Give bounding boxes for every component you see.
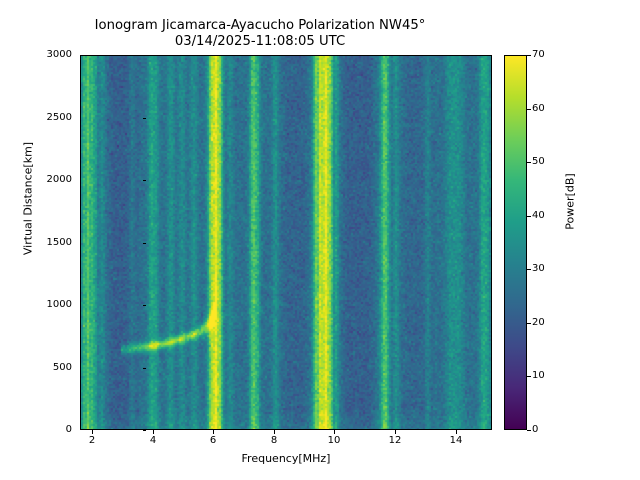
x-tick-mark bbox=[395, 430, 396, 434]
y-tick-mark bbox=[143, 430, 147, 431]
colorbar-tick-label: 70 bbox=[532, 50, 545, 60]
x-tick-label: 2 bbox=[72, 435, 112, 446]
colorbar-tick-mark bbox=[527, 376, 531, 377]
x-tick-label: 6 bbox=[193, 435, 233, 446]
y-tick-mark bbox=[143, 368, 147, 369]
y-tick-mark bbox=[143, 180, 147, 181]
y-tick-mark bbox=[143, 118, 147, 119]
y-tick-label: 1500 bbox=[20, 238, 72, 248]
x-tick-mark bbox=[213, 430, 214, 434]
y-tick-label: 1000 bbox=[20, 300, 72, 310]
colorbar-tick-label: 40 bbox=[532, 211, 545, 221]
x-tick-mark bbox=[153, 430, 154, 434]
colorbar-tick-label: 10 bbox=[532, 371, 545, 381]
colorbar-gradient bbox=[505, 56, 526, 429]
x-tick-label: 4 bbox=[133, 435, 173, 446]
x-tick-label: 10 bbox=[314, 435, 354, 446]
colorbar-tick-label: 60 bbox=[532, 104, 545, 114]
y-tick-label: 2000 bbox=[20, 175, 72, 185]
colorbar bbox=[504, 55, 527, 430]
x-tick-label: 8 bbox=[254, 435, 294, 446]
colorbar-tick-mark bbox=[527, 55, 531, 56]
y-tick-mark bbox=[143, 55, 147, 56]
x-tick-mark bbox=[334, 430, 335, 434]
y-tick-label: 3000 bbox=[20, 50, 72, 60]
x-tick-mark bbox=[456, 430, 457, 434]
y-tick-mark bbox=[143, 243, 147, 244]
colorbar-tick-mark bbox=[527, 109, 531, 110]
figure-title: Ionogram Jicamarca-Ayacucho Polarization… bbox=[0, 18, 520, 50]
x-tick-mark bbox=[92, 430, 93, 434]
colorbar-label: Power[dB] bbox=[564, 102, 577, 302]
y-tick-label: 500 bbox=[20, 363, 72, 373]
y-tick-label: 2500 bbox=[20, 113, 72, 123]
colorbar-tick-mark bbox=[527, 216, 531, 217]
colorbar-tick-label: 50 bbox=[532, 157, 545, 167]
x-tick-label: 14 bbox=[436, 435, 476, 446]
colorbar-tick-mark bbox=[527, 323, 531, 324]
y-tick-mark bbox=[143, 305, 147, 306]
ionogram-figure: Ionogram Jicamarca-Ayacucho Polarization… bbox=[0, 0, 640, 480]
colorbar-tick-label: 0 bbox=[532, 425, 538, 435]
colorbar-tick-mark bbox=[527, 430, 531, 431]
colorbar-tick-label: 20 bbox=[532, 318, 545, 328]
x-tick-mark bbox=[274, 430, 275, 434]
x-tick-label: 12 bbox=[375, 435, 415, 446]
y-tick-label: 0 bbox=[20, 425, 72, 435]
colorbar-tick-label: 30 bbox=[532, 264, 545, 274]
colorbar-tick-mark bbox=[527, 162, 531, 163]
x-axis-label: Frequency[MHz] bbox=[80, 452, 492, 465]
colorbar-tick-mark bbox=[527, 269, 531, 270]
